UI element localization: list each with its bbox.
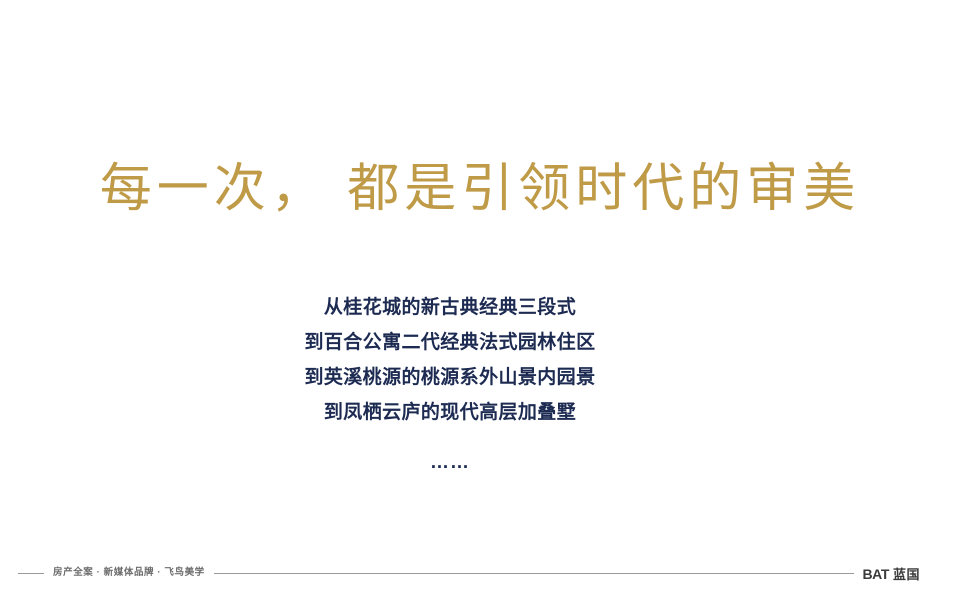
presentation-slide: 每一次， 都是引领时代的审美 从桂花城的新古典经典三段式 到百合公寓二代经典法式… bbox=[0, 0, 960, 600]
footer-tagline: 房产全案 · 新媒体品牌 · 飞鸟美学 bbox=[53, 567, 205, 579]
body-line: 到英溪桃源的桃源系外山景内园景 bbox=[0, 360, 900, 395]
body-line: 从桂花城的新古典经典三段式 bbox=[0, 290, 900, 325]
slide-footer: 房产全案 · 新媒体品牌 · 飞鸟美学 BAT 蓝国 bbox=[0, 563, 960, 583]
slide-title-container: 每一次， 都是引领时代的审美 bbox=[0, 158, 960, 220]
footer-rule-left bbox=[18, 573, 44, 574]
brand-name-text: 蓝国 bbox=[893, 564, 920, 583]
brand-logo: BAT 蓝国 bbox=[862, 564, 920, 583]
body-line: 到凤栖云庐的现代高层加叠墅 bbox=[0, 395, 900, 430]
slide-title: 每一次， 都是引领时代的审美 bbox=[100, 158, 860, 220]
slide-body-text: 从桂花城的新古典经典三段式 到百合公寓二代经典法式园林住区 到英溪桃源的桃源系外… bbox=[0, 290, 900, 430]
footer-rule-main bbox=[214, 573, 855, 574]
body-line: 到百合公寓二代经典法式园林住区 bbox=[0, 325, 900, 360]
body-ellipsis: …… bbox=[0, 452, 900, 474]
brand-mark-text: BAT bbox=[862, 566, 889, 582]
